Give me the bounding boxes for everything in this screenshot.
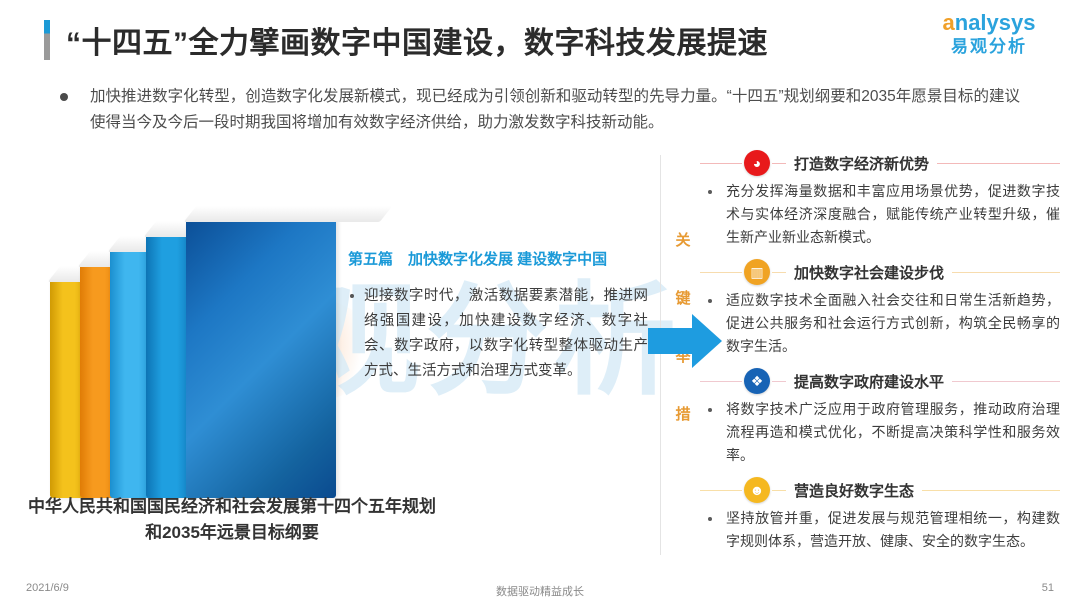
bank-building-icon: ▥ xyxy=(744,259,770,285)
piggy-bank-icon: ◕ xyxy=(744,150,770,176)
section-body: 坚持放管并重，促进发展与规范管理相统一，构建数字规则体系，营造开放、健康、安全的… xyxy=(700,505,1060,559)
section-rule-left xyxy=(700,381,742,382)
bullet-dot-icon xyxy=(60,93,68,101)
title-accent-bar xyxy=(44,20,50,60)
section-rule-right xyxy=(937,163,1060,164)
slide-canvas: 易观分析 “十四五”全力擘画数字中国建设，数字科技发展提速 analysys 易… xyxy=(0,0,1080,608)
bullet-dot-icon xyxy=(708,408,712,412)
section-rule-right xyxy=(922,490,1060,491)
logo-letter-a: a xyxy=(943,10,955,35)
section-header: ▥加快数字社会建设步伐 xyxy=(700,257,1060,287)
intro-paragraph: 加快推进数字化转型，创造数字化发展新模式，现已经成为引领创新和驱动转型的先导力量… xyxy=(60,84,1020,136)
right-arrow-icon xyxy=(648,312,722,370)
section-rule-mid xyxy=(772,490,786,491)
section-title: 打造数字经济新优势 xyxy=(786,153,937,174)
bullet-dot-icon xyxy=(708,190,712,194)
section-rule-left xyxy=(700,272,742,273)
section-body-text: 坚持放管并重，促进发展与规范管理相统一，构建数字规则体系，营造开放、健康、安全的… xyxy=(726,507,1060,553)
section-rule-right xyxy=(952,381,1060,382)
middle-body: 迎接数字时代，激活数据要素潜能，推进网络强国建设，加快建设数字经济、数字社会、数… xyxy=(348,284,648,384)
bullet-dot-icon xyxy=(708,299,712,303)
footer-page-number: 51 xyxy=(1042,582,1054,594)
slide-footer: 2021/6/9 数据驱动精益成长 51 xyxy=(0,574,1080,608)
section-body-text: 充分发挥海量数据和丰富应用场景优势，促进数字技术与实体经济深度融合，赋能传统产业… xyxy=(726,180,1060,249)
book-darkblue xyxy=(186,218,336,498)
section-body: 充分发挥海量数据和丰富应用场景优势，促进数字技术与实体经济深度融合，赋能传统产业… xyxy=(700,178,1060,255)
section-rule-mid xyxy=(772,272,786,273)
middle-heading: 第五篇 加快数字化发展 建设数字中国 xyxy=(348,248,648,272)
books-caption: 中华人民共和国国民经济和社会发展第十四个五年规划和2035年远景目标纲要 xyxy=(22,494,442,546)
measure-section-3: ❖提高数字政府建设水平将数字技术广泛应用于政府管理服务，推动政府治理流程再造和模… xyxy=(700,366,1060,473)
logo-wordmark: analysys xyxy=(924,12,1054,34)
vertical-label-char-4: 措 xyxy=(672,386,694,444)
section-body: 将数字技术广泛应用于政府管理服务，推动政府治理流程再造和模式优化，不断提高决策科… xyxy=(700,396,1060,473)
measure-section-2: ▥加快数字社会建设步伐适应数字技术全面融入社会交往和日常生活新趋势，促进公共服务… xyxy=(700,257,1060,364)
books-illustration xyxy=(36,168,316,498)
bullet-dot-icon xyxy=(708,517,712,521)
logo-wordmark-rest: nalysys xyxy=(955,10,1036,35)
measure-section-4: ☻营造良好数字生态坚持放管并重，促进发展与规范管理相统一，构建数字规则体系，营造… xyxy=(700,475,1060,559)
slide-header: “十四五”全力擘画数字中国建设，数字科技发展提速 xyxy=(0,0,1080,72)
bullet-dot-icon xyxy=(350,294,354,298)
section-title: 营造良好数字生态 xyxy=(786,480,922,501)
section-body-text: 适应数字技术全面融入社会交往和日常生活新趋势，促进公共服务和社会运行方式创新，构… xyxy=(726,289,1060,358)
shield-icon: ❖ xyxy=(744,368,770,394)
book-pages xyxy=(184,206,393,222)
intro-text: 加快推进数字化转型，创造数字化发展新模式，现已经成为引领创新和驱动转型的先导力量… xyxy=(90,84,1020,136)
section-header: ❖提高数字政府建设水平 xyxy=(700,366,1060,396)
vertical-label-char-1: 关 xyxy=(672,212,694,270)
section-header: ◕打造数字经济新优势 xyxy=(700,148,1060,178)
section-title: 提高数字政府建设水平 xyxy=(786,371,952,392)
section-body: 适应数字技术全面融入社会交往和日常生活新趋势，促进公共服务和社会运行方式创新，构… xyxy=(700,287,1060,364)
section-rule-mid xyxy=(772,381,786,382)
page-title: “十四五”全力擘画数字中国建设，数字科技发展提速 xyxy=(66,18,768,62)
right-column: ◕打造数字经济新优势充分发挥海量数据和丰富应用场景优势，促进数字技术与实体经济深… xyxy=(700,148,1060,561)
section-title: 加快数字社会建设步伐 xyxy=(786,262,952,283)
middle-column: 第五篇 加快数字化发展 建设数字中国 迎接数字时代，激活数据要素潜能，推进网络强… xyxy=(348,248,648,384)
section-rule-left xyxy=(700,163,742,164)
section-rule-right xyxy=(952,272,1060,273)
logo-chinese-name: 易观分析 xyxy=(924,38,1054,55)
section-rule-left xyxy=(700,490,742,491)
middle-body-text: 迎接数字时代，激活数据要素潜能，推进网络强国建设，加快建设数字经济、数字社会、数… xyxy=(364,284,648,384)
section-body-text: 将数字技术广泛应用于政府管理服务，推动政府治理流程再造和模式优化，不断提高决策科… xyxy=(726,398,1060,467)
person-icon: ☻ xyxy=(744,477,770,503)
section-rule-mid xyxy=(772,163,786,164)
measure-section-1: ◕打造数字经济新优势充分发挥海量数据和丰富应用场景优势，促进数字技术与实体经济深… xyxy=(700,148,1060,255)
section-header: ☻营造良好数字生态 xyxy=(700,475,1060,505)
footer-slogan: 数据驱动精益成长 xyxy=(0,583,1080,599)
brand-logo: analysys 易观分析 xyxy=(924,12,1054,55)
